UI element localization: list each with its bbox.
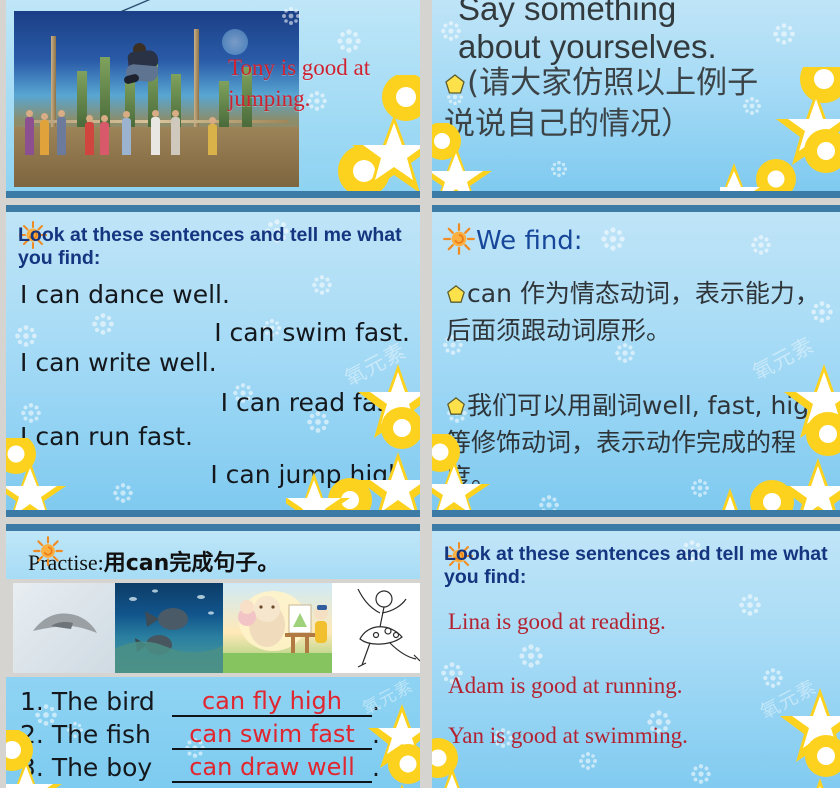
jumper-figure	[122, 43, 164, 87]
watermark: 氧元素	[755, 672, 821, 724]
slide-we-find[interactable]: We find: can 作为情态动词，表示能力，后面须跟动词原形。 我们可以用…	[432, 205, 840, 517]
fish-photo	[115, 583, 223, 673]
slide6-heading: Look at these sentences and tell me what…	[444, 543, 840, 589]
practise-sentences: 1. The birdcan fly high. 2. The fishcan …	[6, 677, 420, 788]
dancer-sketch	[332, 583, 420, 673]
we-find-point-1-wrap: can 作为情态动词，表示能力，后面须跟动词原形。	[446, 276, 840, 348]
practise-row-3[interactable]: 3. The boycan draw well.	[20, 753, 412, 786]
good-at-sentence-3: Yan is good at swimming.	[448, 723, 688, 749]
chinese-line-1: (请大家仿照以上例子	[467, 65, 758, 101]
slide-practise-can[interactable]: Practise:用can完成句子。	[6, 524, 420, 788]
practise-row-1-answer[interactable]: can fly high	[172, 687, 372, 717]
tony-caption: Tony is good at jumping.	[228, 52, 418, 114]
practise-image-strip	[13, 583, 420, 673]
practise-row-2-answer[interactable]: can swim fast	[172, 720, 372, 750]
chinese-line-1-wrap: (请大家仿照以上例子	[444, 64, 840, 105]
slide-tony-jumping[interactable]: Tony is good at jumping.	[6, 0, 420, 198]
practise-row-3-end: .	[372, 753, 380, 782]
we-find-point-1: can 作为情态动词，表示能力，后面须跟动词原形。	[446, 279, 820, 345]
say-something-heading: Say something about yourselves.	[458, 0, 840, 66]
practise-row-1-lead: 1. The bird	[20, 687, 172, 716]
good-at-sentence-1: Lina is good at reading.	[448, 609, 666, 635]
can-sentence-5: I can run fast.	[20, 422, 193, 451]
practise-row-2-end: .	[372, 720, 380, 749]
practise-row-1-end: .	[372, 687, 380, 716]
slide-look-at-sentences-can[interactable]: Look at these sentences and tell me what…	[6, 205, 420, 517]
slide-say-something[interactable]: Say something about yourselves. (请大家仿照以上…	[432, 0, 840, 198]
sun-icon	[442, 222, 476, 261]
can-sentence-6: I can jump high	[210, 460, 404, 489]
pentagon-star-bullet-icon	[444, 66, 466, 105]
can-sentence-1: I can dance well.	[20, 280, 230, 309]
practise-title-cn: 用can完成句子。	[104, 551, 280, 576]
chinese-line-2: 说说自己的情况）	[444, 105, 840, 144]
heading-line-1: Say something	[458, 0, 840, 28]
practise-row-1[interactable]: 1. The birdcan fly high.	[20, 687, 412, 720]
can-sentence-4: I can read fast	[221, 388, 400, 417]
we-find-point-2-wrap: 我们可以用副词well, fast, high等修饰动词，表示动作完成的程度。	[446, 388, 840, 495]
can-sentence-2: I can swim fast.	[214, 318, 410, 347]
pentagon-star-bullet-icon	[446, 390, 466, 425]
star-decor-bottom-right	[286, 360, 420, 517]
practise-row-2-lead: 2. The fish	[20, 720, 172, 749]
we-find-heading: We find:	[476, 226, 583, 256]
practise-row-3-answer[interactable]: can draw well	[172, 753, 372, 783]
slide3-heading: Look at these sentences and tell me what…	[18, 224, 410, 270]
say-something-chinese: (请大家仿照以上例子 说说自己的情况）	[444, 64, 840, 144]
star-decor-bottom-right	[724, 682, 840, 788]
practise-row-3-lead: 3. The boy	[20, 753, 172, 782]
can-sentence-3: I can write well.	[20, 348, 217, 377]
practise-row-2[interactable]: 2. The fishcan swim fast.	[20, 720, 412, 753]
sun-icon	[32, 535, 64, 572]
practise-title: Practise:用can完成句子。	[28, 545, 279, 577]
children-drawing-photo	[223, 583, 331, 673]
heading-line-2: about yourselves.	[458, 28, 840, 66]
bird-photo	[13, 583, 115, 673]
pentagon-star-bullet-icon	[446, 278, 466, 313]
we-find-point-2: 我们可以用副词well, fast, high等修饰动词，表示动作完成的程度。	[446, 391, 825, 492]
slide-deck: Tony is good at jumping. Say something	[0, 0, 840, 788]
good-at-sentence-2: Adam is good at running.	[448, 673, 682, 699]
slide-good-at-sentences[interactable]: Look at these sentences and tell me what…	[432, 524, 840, 788]
